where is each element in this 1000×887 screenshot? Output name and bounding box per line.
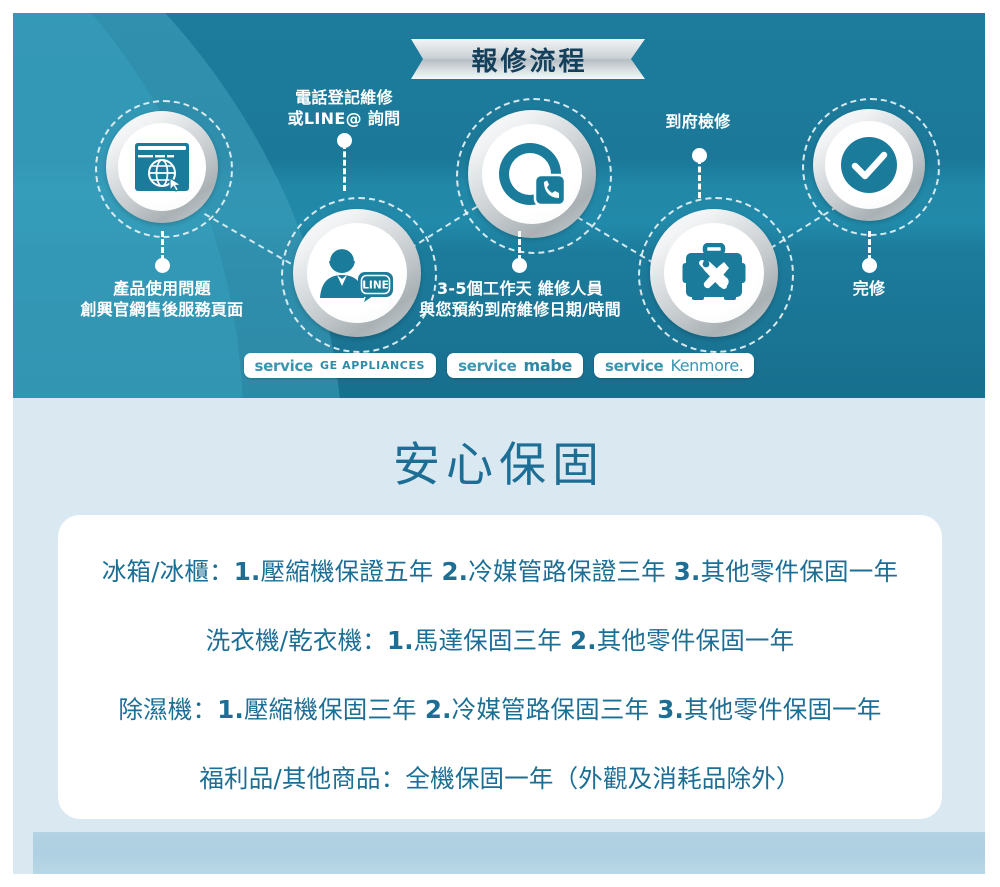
bottom-accent-band [33,832,985,874]
flow-label-website: 產品使用問題 創興官網售後服務頁面 [32,278,292,320]
stalk-dot-schedule [512,258,527,273]
section-title-ribbon: 報修流程 [411,39,645,79]
flow-node-website[interactable] [106,111,218,223]
service-brand-badges: service GE APPLIANCES service mabe servi… [13,353,985,378]
stalk-dot-complete [862,258,877,273]
badge-service-word: service [458,357,516,375]
check-circle-icon [825,121,913,209]
stalk-onsite [698,158,701,198]
browser-globe-icon [118,123,206,211]
badge-brand-name: Kenmore. [670,356,743,375]
flow-label-onsite: 到府檢修 [618,111,778,132]
flow-node-onsite[interactable] [650,209,778,337]
warranty-title: 安心保固 [13,426,985,495]
stalk-schedule [518,231,521,261]
toolbox-icon [664,223,764,323]
stalk-phone-line [343,143,346,191]
badge-kenmore[interactable]: service Kenmore. [594,353,754,378]
warranty-line: 冰箱/冰櫃：1.壓縮機保證五年 2.冷媒管路保證三年 3.其他零件保固一年 [58,553,942,588]
warranty-section: 安心保固 冰箱/冰櫃：1.壓縮機保證五年 2.冷媒管路保證三年 3.其他零件保固… [13,398,985,874]
stalk-dot-website [155,258,170,273]
page-root: 報修流程 [0,0,1000,887]
flow-label-complete: 完修 [789,278,949,299]
stalk-complete [868,231,871,261]
badge-service-word: service [605,357,663,375]
stalk-website [161,231,164,261]
warranty-line: 洗衣機/乾衣機：1.馬達保固三年 2.其他零件保固一年 [58,622,942,657]
badge-brand-name: mabe [523,356,572,375]
badge-brand-name: GE APPLIANCES [320,359,425,372]
flow-label-phone-line: 電話登記維修 或LINE@ 詢問 [219,87,469,129]
flow-node-schedule[interactable] [468,110,596,238]
badge-service-word: service [255,357,313,375]
badge-mabe[interactable]: service mabe [447,353,583,378]
warranty-line: 福利品/其他商品：全機保固一年（外觀及消耗品除外） [58,760,942,795]
warranty-line: 除濕機：1.壓縮機保固三年 2.冷媒管路保固三年 3.其他零件保固一年 [58,691,942,726]
repair-flow-panel: 報修流程 [13,13,985,398]
stalk-dot-phone-line [337,133,352,148]
flow-label-schedule: 3-5個工作天 維修人員 與您預約到府維修日期/時間 [385,278,655,320]
clock-phone-icon [482,124,582,224]
badge-ge-appliances[interactable]: service GE APPLIANCES [244,353,437,378]
warranty-card: 冰箱/冰櫃：1.壓縮機保證五年 2.冷媒管路保證三年 3.其他零件保固一年 洗衣… [58,515,942,819]
section-title: 報修流程 [411,39,645,79]
flow-node-complete[interactable] [813,109,925,221]
stalk-dot-onsite [692,148,707,163]
